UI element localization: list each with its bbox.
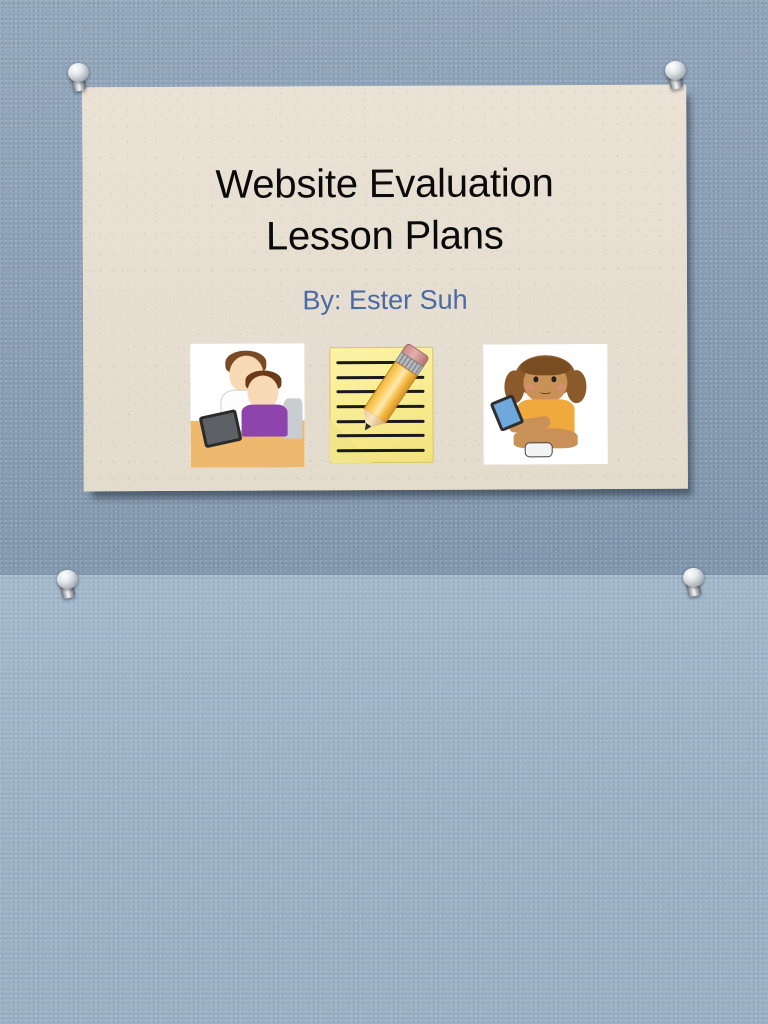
slide-1[interactable]: Website Evaluation Lesson Plans By: Este… bbox=[82, 85, 688, 492]
slide-1-title-line-2: Lesson Plans bbox=[83, 209, 687, 264]
page-2-background-texture bbox=[0, 575, 768, 1024]
slide-1-image-row bbox=[83, 341, 688, 472]
notepad-and-pencil-clipart bbox=[326, 344, 437, 466]
slide-1-byline: By: Ester Suh bbox=[83, 284, 687, 318]
slide-1-title-line-1: Website Evaluation bbox=[82, 157, 686, 212]
page-1: Website Evaluation Lesson Plans By: Este… bbox=[0, 0, 768, 575]
slide-1-title: Website Evaluation Lesson Plans bbox=[82, 157, 686, 264]
teacher-and-child-with-tablet-clipart bbox=[190, 343, 305, 467]
girl-with-tablet-clipart bbox=[483, 344, 608, 465]
presentation-viewer[interactable]: Website Evaluation Lesson Plans By: Este… bbox=[0, 0, 768, 1024]
page-2: Lesson Idea #1: 5W’s The objective of th… bbox=[0, 575, 768, 1024]
